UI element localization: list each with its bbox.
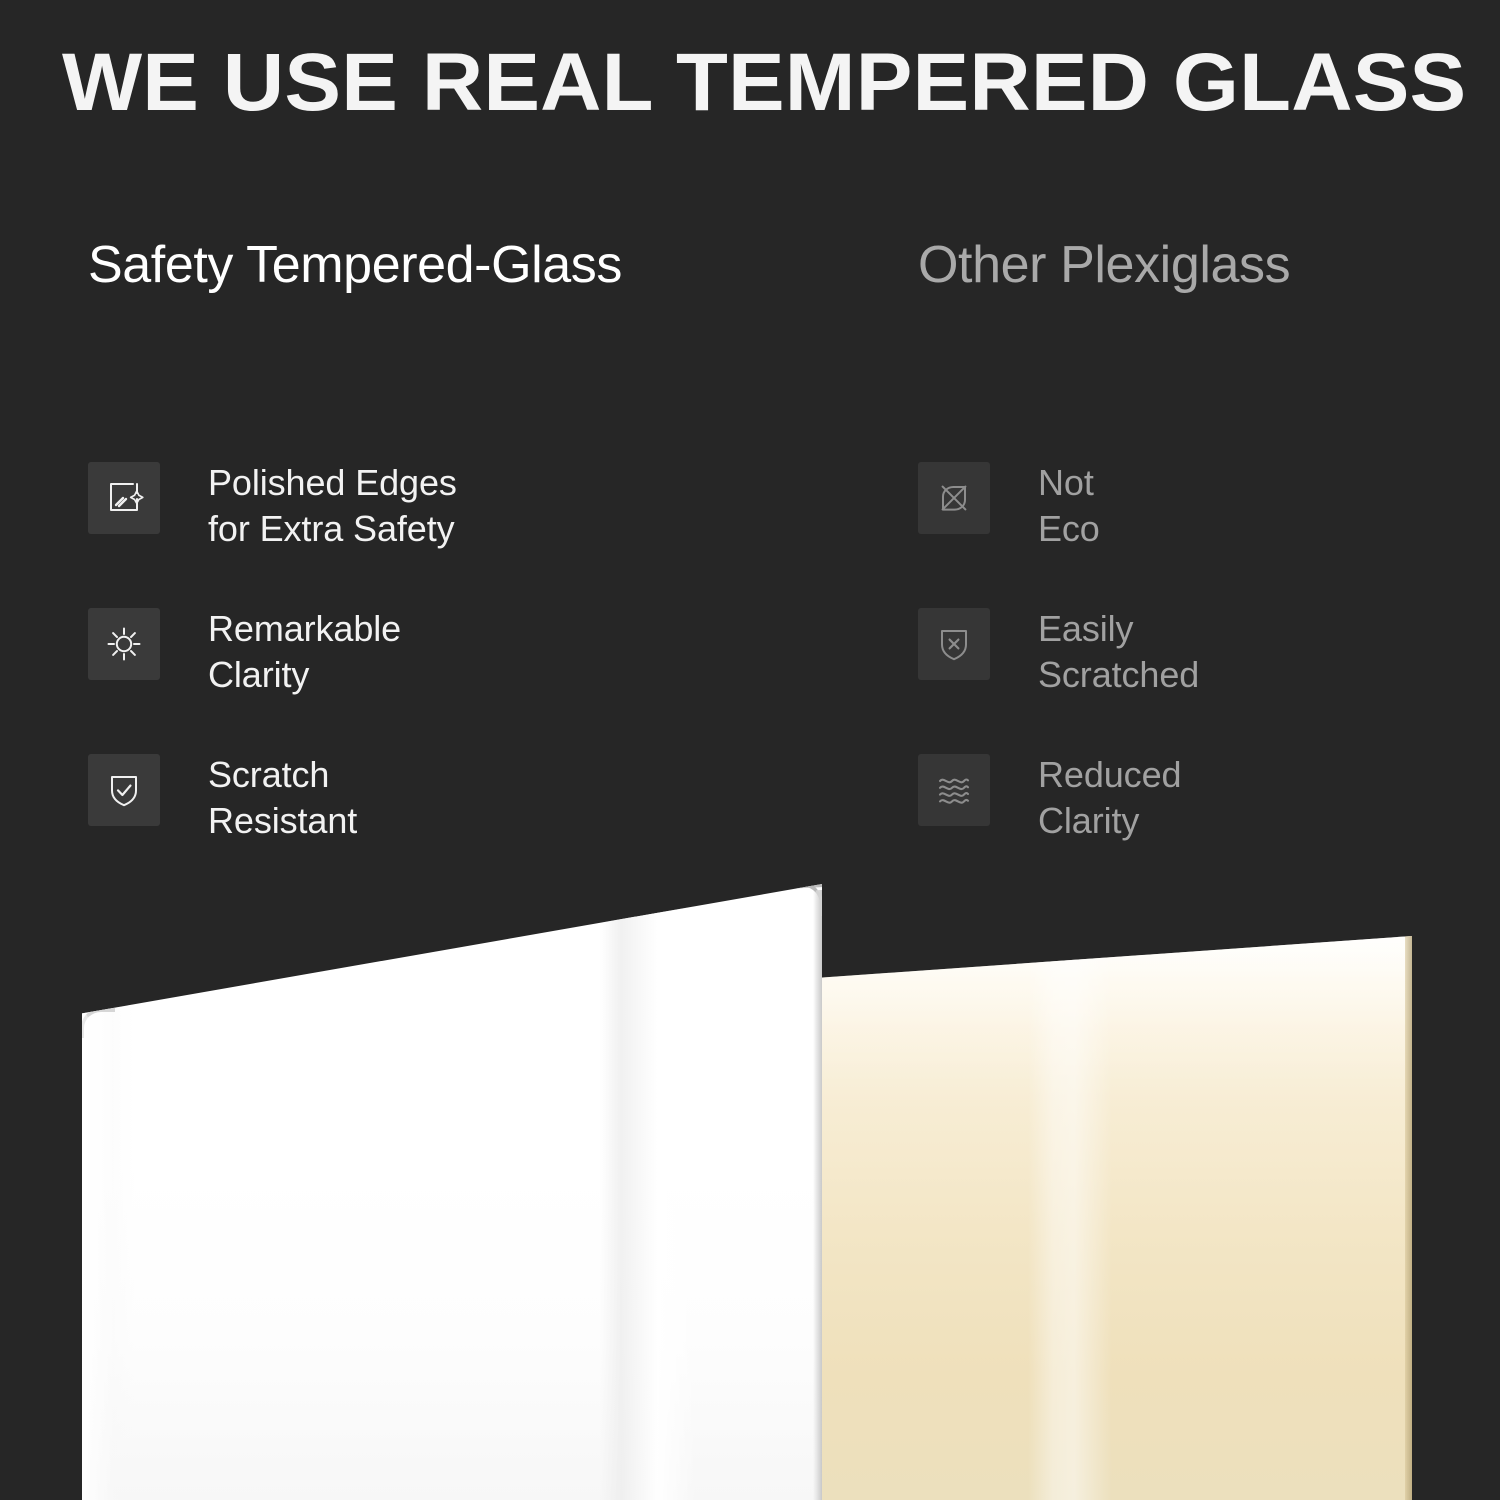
panel-top-highlight xyxy=(812,936,1412,1105)
feature-list-plexiglass: Not Eco xyxy=(918,460,1478,852)
shield-x-icon xyxy=(934,624,974,664)
feature-label-line1: Reduced xyxy=(1038,752,1181,798)
clear-tempered-glass-panel xyxy=(82,884,822,1500)
panel-left-sheen xyxy=(82,884,134,1500)
column-title-tempered-glass: Safety Tempered-Glass xyxy=(88,232,848,299)
column-title-line1: Safety xyxy=(88,236,233,294)
feature-label-line2: Scratched xyxy=(1038,652,1199,698)
page-title: WE USE REAL TEMPERED GLASS xyxy=(62,42,1500,124)
panel-right-edge xyxy=(813,890,822,1500)
feature-item: Remarkable Clarity xyxy=(88,606,848,706)
product-comparison-infographic: WE USE REAL TEMPERED GLASS Safety Temper… xyxy=(0,0,1500,1500)
feature-label-line2: Eco xyxy=(1038,506,1100,552)
feature-item: Scratch Resistant xyxy=(88,752,848,852)
feature-label: Polished Edges for Extra Safety xyxy=(208,460,457,552)
feature-label: Easily Scratched xyxy=(1038,606,1199,698)
column-title-line1: Other xyxy=(918,236,1046,294)
sun-clarity-icon xyxy=(104,624,144,664)
column-title-line2: Tempered-Glass xyxy=(246,236,622,294)
feature-label: Not Eco xyxy=(1038,460,1100,552)
feature-item: Not Eco xyxy=(918,460,1478,560)
feature-item: Easily Scratched xyxy=(918,606,1478,706)
column-tempered-glass: Safety Tempered-Glass xyxy=(88,232,848,299)
feature-label-line2: for Extra Safety xyxy=(208,506,457,552)
feature-label-line2: Resistant xyxy=(208,798,357,844)
panel-sheen xyxy=(1028,936,1112,1500)
feature-list-tempered-glass: Polished Edges for Extra Safety xyxy=(88,460,848,852)
wavy-lines-blur-icon xyxy=(934,770,974,810)
feature-label-line1: Remarkable xyxy=(208,606,401,652)
panel-right-edge xyxy=(1405,936,1412,1500)
feature-label-line1: Scratch xyxy=(208,752,357,798)
panel-sheen xyxy=(600,884,696,1500)
icon-tile xyxy=(918,608,990,680)
feature-label: Remarkable Clarity xyxy=(208,606,401,698)
panel-polished-top-bevel xyxy=(80,882,824,1050)
icon-tile xyxy=(88,462,160,534)
column-title-line2: Plexiglass xyxy=(1060,236,1290,294)
feature-label-line1: Polished Edges xyxy=(208,460,457,506)
feature-label-line1: Not xyxy=(1038,460,1100,506)
column-title-plexiglass: Other Plexiglass xyxy=(918,232,1478,299)
feature-label-line2: Clarity xyxy=(208,652,401,698)
yellowed-plexiglass-panel xyxy=(812,936,1412,1500)
feature-label-line2: Clarity xyxy=(1038,798,1181,844)
shield-check-icon xyxy=(104,770,144,810)
leaf-slash-not-eco-icon xyxy=(934,478,974,518)
comparison-columns: Safety Tempered-Glass xyxy=(0,232,1500,872)
feature-label: Scratch Resistant xyxy=(208,752,357,844)
icon-tile xyxy=(88,754,160,826)
icon-tile xyxy=(88,608,160,680)
panel-corner-top-left xyxy=(81,1008,115,1038)
icon-tile xyxy=(918,754,990,826)
polished-edge-sparkle-icon xyxy=(104,478,144,518)
column-plexiglass: Other Plexiglass xyxy=(918,232,1478,299)
icon-tile xyxy=(918,462,990,534)
feature-item: Reduced Clarity xyxy=(918,752,1478,852)
feature-label-line1: Easily xyxy=(1038,606,1199,652)
feature-label: Reduced Clarity xyxy=(1038,752,1181,844)
feature-item: Polished Edges for Extra Safety xyxy=(88,460,848,560)
product-panel-images xyxy=(0,860,1500,1500)
